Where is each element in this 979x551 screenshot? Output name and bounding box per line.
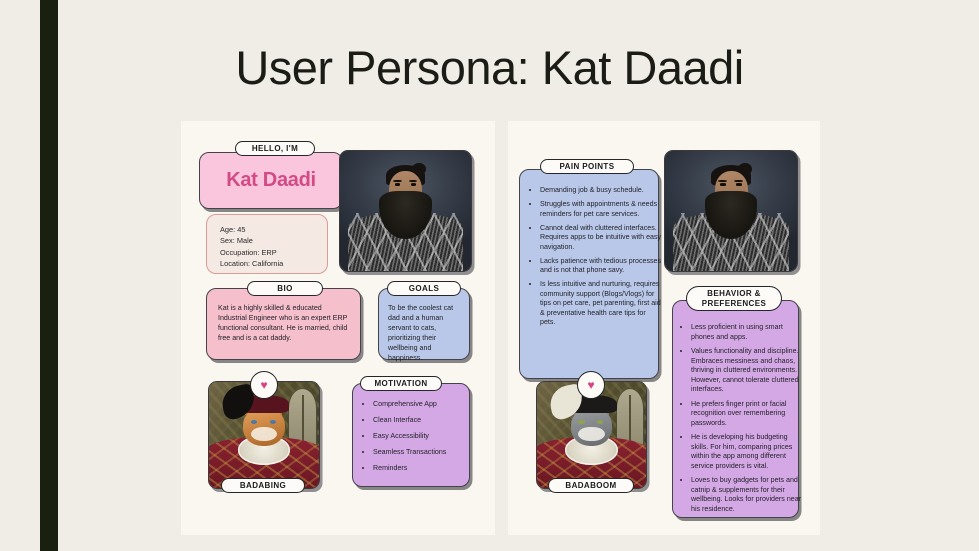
- list-item: Cannot deal with cluttered interfaces. R…: [540, 224, 662, 253]
- behavior-label-line2: PREFERENCES: [702, 299, 766, 309]
- demographic-occupation: Occupation: ERP: [220, 247, 283, 258]
- bio-card: Kat is a highly skilled & educated Indus…: [206, 288, 361, 360]
- demographics-card: Age: 45 Sex: Male Occupation: ERP Locati…: [206, 214, 328, 274]
- behavior-preferences-label: BEHAVIOR & PREFERENCES: [686, 286, 782, 311]
- demographic-age: Age: 45: [220, 224, 283, 235]
- behavior-label-line1: BEHAVIOR &: [707, 289, 761, 299]
- motivation-card: Comprehensive App Clean Interface Easy A…: [352, 383, 470, 487]
- goals-label: GOALS: [387, 281, 461, 296]
- list-item: Loves to buy gadgets for pets and catnip…: [691, 476, 803, 514]
- persona-portrait-photo-right: [664, 150, 798, 272]
- motivation-label: MOTIVATION: [360, 376, 442, 391]
- bearded-man-illustration: [340, 151, 471, 271]
- demographics-list: Age: 45 Sex: Male Occupation: ERP Locati…: [220, 224, 283, 270]
- pain-points-card: Demanding job & busy schedule. Struggles…: [519, 169, 659, 379]
- persona-name: Kat Daadi: [200, 153, 342, 208]
- list-item: He prefers finger print or facial recogn…: [691, 400, 803, 429]
- list-item: Clean Interface: [373, 416, 476, 426]
- goals-card: To be the coolest cat dad and a human se…: [378, 288, 470, 360]
- list-item: Easy Accessibility: [373, 432, 476, 442]
- hello-label: HELLO, I'M: [235, 141, 315, 156]
- list-item: Reminders: [373, 464, 476, 474]
- pain-points-list: Demanding job & busy schedule. Struggles…: [530, 186, 662, 332]
- page-title: User Persona: Kat Daadi: [0, 44, 979, 91]
- cat-name-badabing: BADABING: [221, 478, 305, 493]
- list-item: Comprehensive App: [373, 400, 476, 410]
- heart-icon: ♥: [577, 371, 605, 399]
- bio-label: BIO: [247, 281, 323, 296]
- behavior-preferences-list: Less proficient in using smart phones an…: [681, 323, 803, 519]
- bio-text: Kat is a highly skilled & educated Indus…: [218, 303, 352, 343]
- list-item: Demanding job & busy schedule.: [540, 186, 662, 196]
- motivation-list: Comprehensive App Clean Interface Easy A…: [362, 400, 476, 480]
- demographic-location: Location: California: [220, 258, 283, 269]
- heart-icon: ♥: [250, 371, 278, 399]
- list-item: Values functionality and discipline. Emb…: [691, 347, 803, 395]
- list-item: Is less intuitive and nurturing, require…: [540, 280, 662, 328]
- pain-points-label: PAIN POINTS: [540, 159, 634, 174]
- goals-text: To be the coolest cat dad and a human se…: [388, 303, 464, 363]
- bearded-man-illustration: [665, 151, 797, 271]
- persona-portrait-photo-left: [339, 150, 472, 272]
- list-item: Lacks patience with tedious processes an…: [540, 257, 662, 276]
- list-item: Less proficient in using smart phones an…: [691, 323, 803, 342]
- demographic-sex: Sex: Male: [220, 235, 283, 246]
- list-item: Seamless Transactions: [373, 448, 476, 458]
- list-item: He is developing his budgeting skills. F…: [691, 433, 803, 471]
- cat-name-badaboom: BADABOOM: [548, 478, 634, 493]
- list-item: Struggles with appointments & needs remi…: [540, 200, 662, 219]
- behavior-preferences-card: Less proficient in using smart phones an…: [672, 300, 799, 518]
- persona-name-banner: Kat Daadi: [199, 152, 343, 209]
